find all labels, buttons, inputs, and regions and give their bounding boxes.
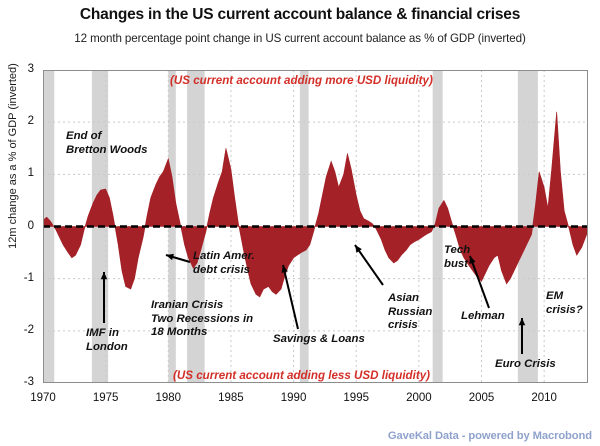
x-tick-label: 2005: [459, 392, 505, 404]
y-tick-label: 1: [8, 167, 34, 179]
chart-subtitle: 12 month percentage point change in US c…: [0, 32, 600, 45]
y-tick-label: 3: [8, 63, 34, 75]
y-axis-title: 12m change as a % of GDP (inverted): [7, 1, 19, 311]
chart-container: Changes in the US current account balanc…: [0, 0, 600, 446]
y-tick-label: -3: [8, 376, 34, 388]
y-tick-label: -2: [8, 324, 34, 336]
x-tick-label: 1990: [271, 392, 317, 404]
x-tick-label: 1970: [20, 392, 66, 404]
x-tick-label: 1995: [333, 392, 379, 404]
x-tick-label: 2000: [396, 392, 442, 404]
x-tick-label: 2010: [521, 392, 567, 404]
annotation-lehman: Lehman: [461, 310, 505, 324]
annotation-euro-crisis: Euro Crisis: [495, 358, 556, 372]
annotation-latin-amer: Latin Amer. debt crisis: [193, 250, 255, 277]
data-credit: GaveKal Data - powered by Macrobond: [388, 430, 592, 442]
annotation-less-liquidity: (US current account adding less USD liqu…: [173, 369, 430, 382]
annotation-bretton-woods: End of Bretton Woods: [66, 130, 147, 157]
y-tick-label: -1: [8, 272, 34, 284]
annotation-imf-london: IMF in London: [86, 327, 128, 354]
y-tick-label: 0: [8, 220, 34, 232]
annotation-tech-bust: Tech bust: [444, 244, 470, 271]
x-tick-label: 1980: [145, 392, 191, 404]
x-tick-label: 1985: [208, 392, 254, 404]
annotation-savings-loans: Savings & Loans: [273, 333, 365, 347]
page-title: Changes in the US current account balanc…: [0, 6, 600, 24]
annotation-asian-russian: Asian Russian crisis: [388, 292, 432, 333]
y-tick-label: 2: [8, 115, 34, 127]
annotation-iranian-crisis: Iranian Crisis Two Recessions in 18 Mont…: [151, 299, 253, 340]
annotation-em-crisis: EM crisis?: [546, 290, 583, 317]
x-tick-label: 1975: [83, 392, 129, 404]
annotation-more-liquidity: (US current account adding more USD liqu…: [170, 74, 433, 87]
